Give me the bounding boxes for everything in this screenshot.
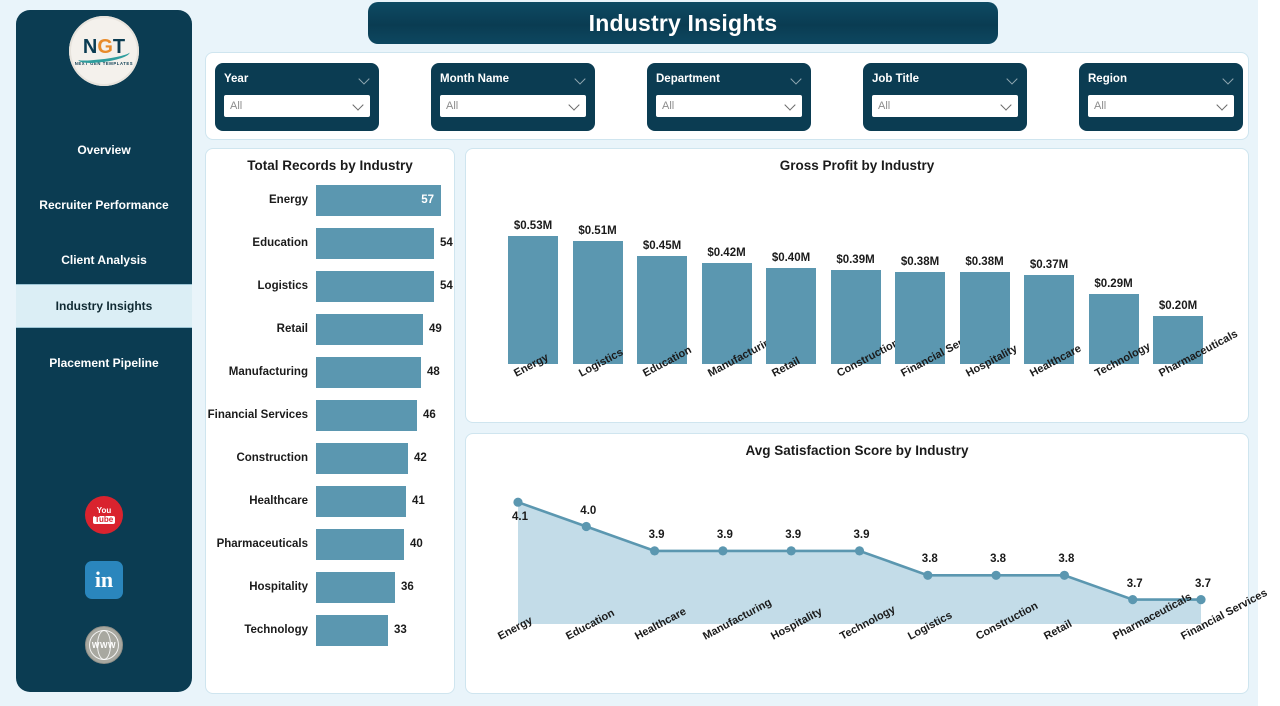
bar-category-label: Energy bbox=[206, 194, 316, 206]
globe-icon-label: WWW bbox=[92, 641, 116, 650]
column-group[interactable]: $0.53M bbox=[508, 236, 558, 364]
year-dropdown[interactable]: All bbox=[224, 95, 370, 117]
column-value-label: $0.20M bbox=[1143, 300, 1213, 312]
bar-value-label: 40 bbox=[404, 538, 423, 550]
chevron-down-icon[interactable] bbox=[575, 74, 586, 85]
bar-category-label: Financial Services bbox=[206, 409, 316, 421]
bar-track: 46 bbox=[316, 398, 456, 432]
data-point bbox=[513, 498, 522, 507]
column-value-label: $0.53M bbox=[498, 220, 568, 232]
sidebar-item-label: Overview bbox=[77, 143, 130, 157]
bar-track: 54 bbox=[316, 226, 456, 260]
bar-track: 42 bbox=[316, 441, 456, 475]
horizontal-bar-chart[interactable]: Energy57Education54Logistics54Retail49Ma… bbox=[206, 183, 456, 683]
bar-value-label: 54 bbox=[434, 237, 453, 249]
column-bar[interactable] bbox=[766, 268, 816, 364]
slicer-value: All bbox=[878, 100, 890, 112]
bar-value-label: 33 bbox=[388, 624, 407, 636]
chevron-down-icon[interactable] bbox=[359, 74, 370, 85]
data-point bbox=[1196, 595, 1205, 604]
sidebar-item-label: Recruiter Performance bbox=[39, 198, 168, 212]
bar-track: 48 bbox=[316, 355, 456, 389]
bar-track: 54 bbox=[316, 269, 456, 303]
sidebar-item-overview[interactable]: Overview bbox=[16, 128, 192, 172]
table-row[interactable]: Hospitality36 bbox=[206, 570, 456, 604]
bar-category-label: Logistics bbox=[206, 280, 316, 292]
slicer-value: All bbox=[662, 100, 674, 112]
bar[interactable] bbox=[316, 228, 434, 259]
youtube-icon-bottom: Tube bbox=[93, 516, 116, 524]
data-point bbox=[855, 546, 864, 555]
bar-category-label: Healthcare bbox=[206, 495, 316, 507]
data-point-label: 3.9 bbox=[717, 529, 733, 541]
bar-value-label: 57 bbox=[421, 194, 441, 206]
data-point bbox=[582, 522, 591, 531]
youtube-icon-top: You bbox=[97, 507, 112, 515]
slicer-year[interactable]: Year All bbox=[215, 63, 379, 131]
page-title-text: Industry Insights bbox=[589, 10, 778, 37]
bar-category-label: Manufacturing bbox=[206, 366, 316, 378]
region-dropdown[interactable]: All bbox=[1088, 95, 1234, 117]
data-point-label: 3.9 bbox=[854, 529, 870, 541]
bar-category-label: Retail bbox=[206, 323, 316, 335]
slicer-header: Region bbox=[1088, 70, 1234, 88]
table-row[interactable]: Pharmaceuticals40 bbox=[206, 527, 456, 561]
column-chart-gross-profit[interactable]: $0.53MEnergy$0.51MLogistics$0.45MEducati… bbox=[466, 179, 1250, 424]
column-bar[interactable] bbox=[573, 241, 623, 364]
youtube-icon: You Tube bbox=[85, 496, 123, 534]
bar-track: 41 bbox=[316, 484, 456, 518]
data-point bbox=[650, 546, 659, 555]
data-point-label: 4.1 bbox=[512, 511, 528, 523]
globe-icon: WWW bbox=[85, 626, 123, 664]
chevron-down-icon[interactable] bbox=[353, 101, 364, 112]
bar[interactable] bbox=[316, 486, 406, 517]
chart-card-satisfaction[interactable]: Avg Satisfaction Score by Industry 4.1En… bbox=[465, 433, 1249, 694]
bar-value-label: 54 bbox=[434, 280, 453, 292]
column-value-label: $0.38M bbox=[950, 256, 1020, 268]
chart-title: Avg Satisfaction Score by Industry bbox=[466, 434, 1248, 458]
bar[interactable] bbox=[316, 572, 395, 603]
column-value-label: $0.42M bbox=[692, 247, 762, 259]
bar-track: 40 bbox=[316, 527, 456, 561]
chevron-down-icon[interactable] bbox=[785, 101, 796, 112]
data-point-label: 3.9 bbox=[785, 529, 801, 541]
bar-track: 33 bbox=[316, 613, 456, 647]
column-group[interactable]: $0.40M bbox=[766, 268, 816, 364]
data-point-label: 3.7 bbox=[1195, 578, 1211, 590]
bar-track: 36 bbox=[316, 570, 456, 604]
table-row[interactable]: Education54 bbox=[206, 226, 456, 260]
data-point bbox=[992, 571, 1001, 580]
brand-logo: NGT NEXT GEN TEMPLATES bbox=[69, 16, 139, 86]
bar-value-label: 42 bbox=[408, 452, 427, 464]
job-title-dropdown[interactable]: All bbox=[872, 95, 1018, 117]
bar[interactable] bbox=[316, 271, 434, 302]
slicer-value: All bbox=[230, 100, 242, 112]
bar-value-label: 41 bbox=[406, 495, 425, 507]
chevron-down-icon[interactable] bbox=[1217, 101, 1228, 112]
column-value-label: $0.40M bbox=[756, 252, 826, 264]
sidebar-item-label: Client Analysis bbox=[61, 253, 147, 267]
linkedin-icon: in bbox=[85, 561, 123, 599]
sidebar-item-client-analysis[interactable]: Client Analysis bbox=[16, 238, 192, 282]
chart-card-gross-profit[interactable]: Gross Profit by Industry $0.53MEnergy$0.… bbox=[465, 148, 1249, 423]
bar-category-label: Construction bbox=[206, 452, 316, 464]
data-point bbox=[718, 546, 727, 555]
slicer-value: All bbox=[446, 100, 458, 112]
column-group[interactable]: $0.51M bbox=[573, 241, 623, 364]
slicer-header: Year bbox=[224, 70, 370, 88]
table-row[interactable]: Construction42 bbox=[206, 441, 456, 475]
data-point bbox=[787, 546, 796, 555]
table-row[interactable]: Retail49 bbox=[206, 312, 456, 346]
table-row[interactable]: Healthcare41 bbox=[206, 484, 456, 518]
slicer-department[interactable]: Department All bbox=[647, 63, 811, 131]
bar[interactable] bbox=[316, 357, 421, 388]
slicer-header: Job Title bbox=[872, 70, 1018, 88]
data-point-label: 3.9 bbox=[649, 529, 665, 541]
chevron-down-icon[interactable] bbox=[1001, 101, 1012, 112]
column-value-label: $0.29M bbox=[1079, 278, 1149, 290]
dashboard-canvas: NGT NEXT GEN TEMPLATES Overview Recruite… bbox=[0, 0, 1280, 706]
column-value-label: $0.37M bbox=[1014, 259, 1084, 271]
table-row[interactable]: Technology33 bbox=[206, 613, 456, 647]
social-link-youtube[interactable]: You Tube bbox=[84, 495, 124, 535]
bar-track: 57 bbox=[316, 183, 456, 217]
social-link-website[interactable]: WWW bbox=[84, 625, 124, 665]
sidebar: NGT NEXT GEN TEMPLATES Overview Recruite… bbox=[16, 10, 192, 692]
data-point-label: 3.8 bbox=[990, 553, 1006, 565]
bar-value-label: 49 bbox=[423, 323, 442, 335]
slicer-job-title[interactable]: Job Title All bbox=[863, 63, 1027, 131]
chevron-down-icon[interactable] bbox=[791, 74, 802, 85]
sidebar-item-label: Industry Insights bbox=[56, 299, 153, 313]
data-point-label: 3.7 bbox=[1127, 578, 1143, 590]
column-bar[interactable] bbox=[508, 236, 558, 364]
bar[interactable] bbox=[316, 443, 408, 474]
bar[interactable] bbox=[316, 314, 423, 345]
slicer-label: Year bbox=[224, 73, 248, 85]
data-point bbox=[1128, 595, 1137, 604]
bar[interactable] bbox=[316, 529, 404, 560]
chevron-down-icon[interactable] bbox=[1007, 74, 1018, 85]
bar[interactable] bbox=[316, 615, 388, 646]
bar[interactable]: 57 bbox=[316, 185, 441, 216]
chevron-down-icon[interactable] bbox=[1223, 74, 1234, 85]
column-value-label: $0.39M bbox=[821, 254, 891, 266]
sidebar-item-recruiter-performance[interactable]: Recruiter Performance bbox=[16, 183, 192, 227]
sidebar-item-placement-pipeline[interactable]: Placement Pipeline bbox=[16, 341, 192, 385]
slicer-value: All bbox=[1094, 100, 1106, 112]
data-point-label: 3.8 bbox=[1058, 553, 1074, 565]
slicer-label: Job Title bbox=[872, 73, 919, 85]
filter-bar: Year All Month Name All Department bbox=[205, 52, 1249, 140]
bar-value-label: 36 bbox=[395, 581, 414, 593]
bar-value-label: 46 bbox=[417, 409, 436, 421]
chart-title: Gross Profit by Industry bbox=[466, 149, 1248, 173]
sidebar-item-label: Placement Pipeline bbox=[49, 356, 158, 370]
bar-category-label: Hospitality bbox=[206, 581, 316, 593]
bar-category-label: Education bbox=[206, 237, 316, 249]
data-point-label: 3.8 bbox=[922, 553, 938, 565]
table-row[interactable]: Manufacturing48 bbox=[206, 355, 456, 389]
table-row[interactable]: Energy57 bbox=[206, 183, 456, 217]
column-value-label: $0.38M bbox=[885, 256, 955, 268]
social-link-linkedin[interactable]: in bbox=[84, 560, 124, 600]
chevron-down-icon[interactable] bbox=[569, 101, 580, 112]
table-row[interactable]: Logistics54 bbox=[206, 269, 456, 303]
bar-value-label: 48 bbox=[421, 366, 440, 378]
page-title: Industry Insights bbox=[368, 2, 998, 44]
data-point bbox=[1060, 571, 1069, 580]
slicer-label: Month Name bbox=[440, 73, 509, 85]
data-point-label: 4.0 bbox=[580, 505, 596, 517]
data-point bbox=[923, 571, 932, 580]
chart-card-total-records[interactable]: Total Records by Industry Energy57Educat… bbox=[205, 148, 455, 694]
table-row[interactable]: Financial Services46 bbox=[206, 398, 456, 432]
slicer-month-name[interactable]: Month Name All bbox=[431, 63, 595, 131]
slicer-label: Department bbox=[656, 73, 720, 85]
month-name-dropdown[interactable]: All bbox=[440, 95, 586, 117]
bar-track: 49 bbox=[316, 312, 456, 346]
slicer-header: Department bbox=[656, 70, 802, 88]
slicer-label: Region bbox=[1088, 73, 1127, 85]
column-value-label: $0.45M bbox=[627, 240, 697, 252]
sidebar-item-industry-insights[interactable]: Industry Insights bbox=[16, 284, 192, 328]
bar-category-label: Pharmaceuticals bbox=[206, 538, 316, 550]
area-chart-satisfaction[interactable]: 4.1Energy4.0Education3.9Healthcare3.9Man… bbox=[466, 462, 1250, 695]
column-value-label: $0.51M bbox=[563, 225, 633, 237]
slicer-header: Month Name bbox=[440, 70, 586, 88]
slicer-region[interactable]: Region All bbox=[1079, 63, 1243, 131]
bar-category-label: Technology bbox=[206, 624, 316, 636]
department-dropdown[interactable]: All bbox=[656, 95, 802, 117]
area-fill bbox=[518, 502, 1201, 624]
bar[interactable] bbox=[316, 400, 417, 431]
chart-title: Total Records by Industry bbox=[206, 149, 454, 173]
